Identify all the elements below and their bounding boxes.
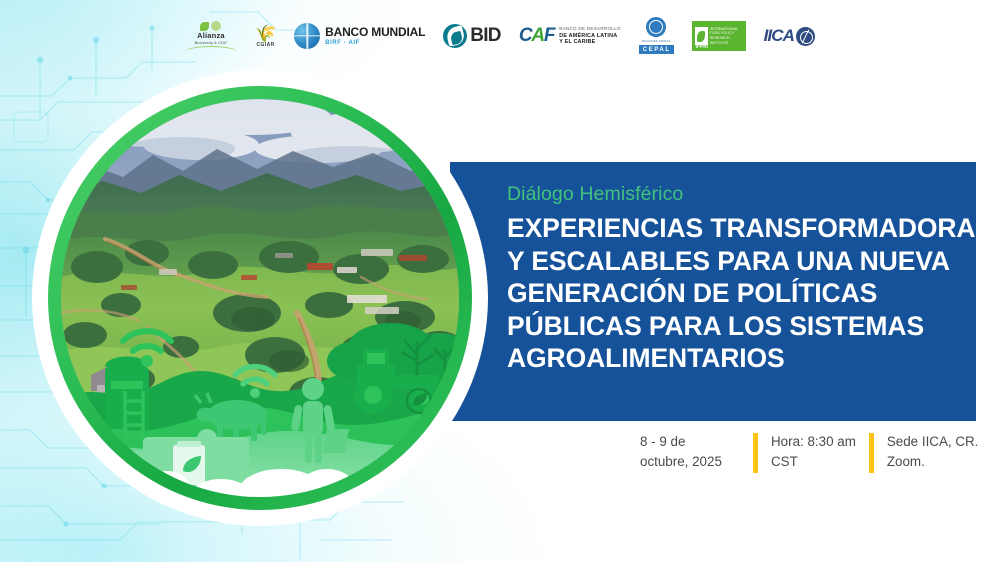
medallion-photo (61, 99, 459, 497)
event-kicker: Diálogo Hemisférico (507, 182, 960, 206)
cgiar-wheat-icon: 🌾 (255, 25, 276, 42)
logo-iica-title: IICA (764, 26, 794, 46)
meta-event-venue: Sede IICA, CR. Zoom. (874, 432, 979, 473)
logo-alianza-title: Alianza (197, 31, 225, 40)
headline-line-2: Y ESCALABLES PARA UNA NUEVA (507, 245, 960, 278)
logo-cepal: NACIONES UNIDAS CEPAL (639, 17, 674, 55)
headline-line-5: AGROALIMENTARIOS (507, 342, 960, 375)
logo-ifpri-title: IFPRI (696, 44, 709, 49)
logo-cgiar-title: CGIAR (256, 42, 274, 48)
title-panel: Diálogo Hemisférico EXPERIENCIAS TRANSFO… (450, 162, 976, 421)
meta-dates-line2: octubre, 2025 (640, 452, 740, 472)
logo-iica: IICA (764, 17, 815, 55)
event-headline: EXPERIENCIAS TRANSFORMADORAS Y ESCALABLE… (507, 212, 960, 375)
logo-bid: BID (443, 17, 501, 55)
meta-time-line2: CST (771, 452, 856, 472)
hero-medallion (48, 86, 472, 510)
logo-cgiar: 🌾 CGIAR (255, 17, 276, 55)
un-emblem-icon (646, 17, 666, 37)
meta-venue-line2: Zoom. (887, 452, 979, 472)
meta-event-time: Hora: 8:30 am CST (758, 432, 869, 473)
alianza-marks-icon (200, 20, 221, 31)
aerial-landscape-photo-icon (61, 99, 459, 497)
logo-banco-mundial: BANCO MUNDIAL BIRF · AIF (294, 17, 425, 55)
event-meta-bar: 8 - 9 de octubre, 2025 Hora: 8:30 am CST… (640, 432, 978, 473)
logo-banco-mundial-title: BANCO MUNDIAL (325, 26, 425, 38)
logo-alianza-bioversity-ciat: Alianza Bioversity & CIAT (185, 17, 237, 55)
headline-line-1: EXPERIENCIAS TRANSFORMADORAS (507, 212, 960, 245)
logo-cepal-subtitle: NACIONES UNIDAS (642, 39, 671, 43)
caf-wordmark-icon: CAF (519, 25, 554, 47)
logo-ifpri: INTERNATIONAL FOOD POLICY RESEARCH INSTI… (692, 21, 746, 51)
globe-icon (294, 23, 320, 49)
logo-banco-mundial-subtitle: BIRF · AIF (325, 40, 425, 46)
meta-venue-line1: Sede IICA, CR. (887, 432, 979, 452)
logo-cepal-title: CEPAL (639, 45, 674, 54)
headline-line-3: GENERACIÓN DE POLÍTICAS (507, 277, 960, 310)
ifpri-leaf-icon (695, 27, 708, 45)
logo-bid-title: BID (470, 25, 501, 47)
logo-caf-line3: Y EL CARIBE (559, 39, 620, 46)
headline-line-4: PÚBLICAS PARA LOS SISTEMAS (507, 310, 960, 343)
bid-swirl-icon (443, 24, 467, 48)
meta-dates-line1: 8 - 9 de (640, 432, 740, 452)
logo-caf: CAF BANCO DE DESARROLLO DE AMÉRICA LATIN… (519, 17, 621, 55)
alianza-arc-icon (185, 46, 237, 52)
meta-time-line1: Hora: 8:30 am (771, 432, 856, 452)
meta-event-dates: 8 - 9 de octubre, 2025 (640, 432, 753, 473)
logo-ifpri-line4: INSTITUTE (710, 41, 739, 46)
partner-logo-strip: Alianza Bioversity & CIAT 🌾 CGIAR BANCO … (0, 14, 1000, 58)
event-poster: Alianza Bioversity & CIAT 🌾 CGIAR BANCO … (0, 0, 1000, 562)
iica-globe-icon (796, 27, 815, 46)
